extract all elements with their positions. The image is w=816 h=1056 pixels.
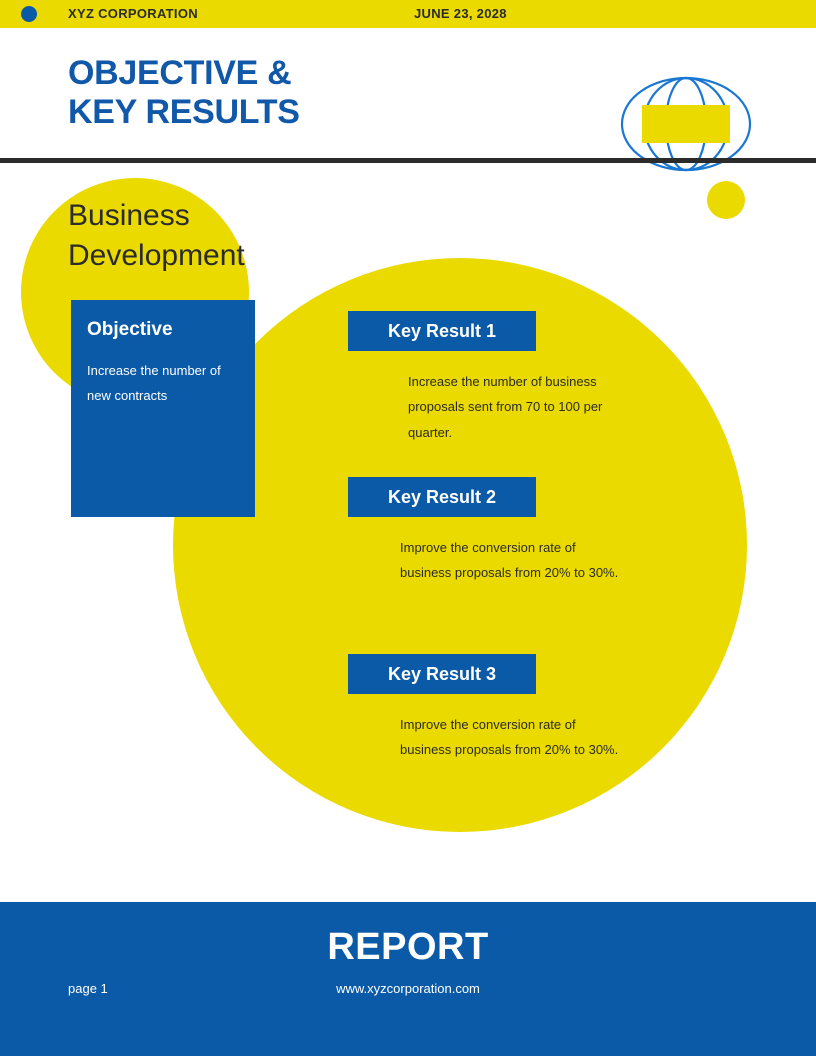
header-divider — [0, 158, 816, 163]
company-name: XYZ CORPORATION — [68, 6, 198, 21]
objective-heading: Objective — [87, 319, 173, 341]
report-page: XYZ CORPORATION JUNE 23, 2028 OBJECTIVE … — [0, 0, 816, 1056]
key-result-3: Key Result 3 Improve the conversion rate… — [348, 654, 630, 763]
key-result-2-text: Improve the conversion rate of business … — [400, 535, 630, 586]
key-result-2: Key Result 2 Improve the conversion rate… — [348, 477, 630, 586]
key-result-2-badge: Key Result 2 — [348, 477, 536, 517]
key-result-1: Key Result 1 Increase the number of busi… — [348, 311, 638, 445]
footer-title: REPORT — [0, 926, 816, 969]
section-heading: Business Development — [68, 196, 398, 276]
footer: REPORT page 1 www.xyzcorporation.com — [0, 902, 816, 1056]
decorative-dot-small — [707, 181, 745, 219]
page-title: OBJECTIVE & KEY RESULTS — [68, 54, 300, 133]
key-result-3-text: Improve the conversion rate of business … — [400, 712, 630, 763]
key-result-3-badge: Key Result 3 — [348, 654, 536, 694]
objective-text: Increase the number of new contracts — [87, 358, 247, 409]
report-date: JUNE 23, 2028 — [414, 6, 507, 21]
header: OBJECTIVE & KEY RESULTS — [0, 28, 816, 158]
key-result-1-text: Increase the number of business proposal… — [408, 369, 638, 445]
objective-card: Objective Increase the number of new con… — [71, 300, 255, 517]
top-bar: XYZ CORPORATION JUNE 23, 2028 — [0, 0, 816, 28]
key-result-1-badge: Key Result 1 — [348, 311, 536, 351]
circle-dot-icon — [21, 6, 37, 22]
website-url[interactable]: www.xyzcorporation.com — [0, 981, 816, 996]
